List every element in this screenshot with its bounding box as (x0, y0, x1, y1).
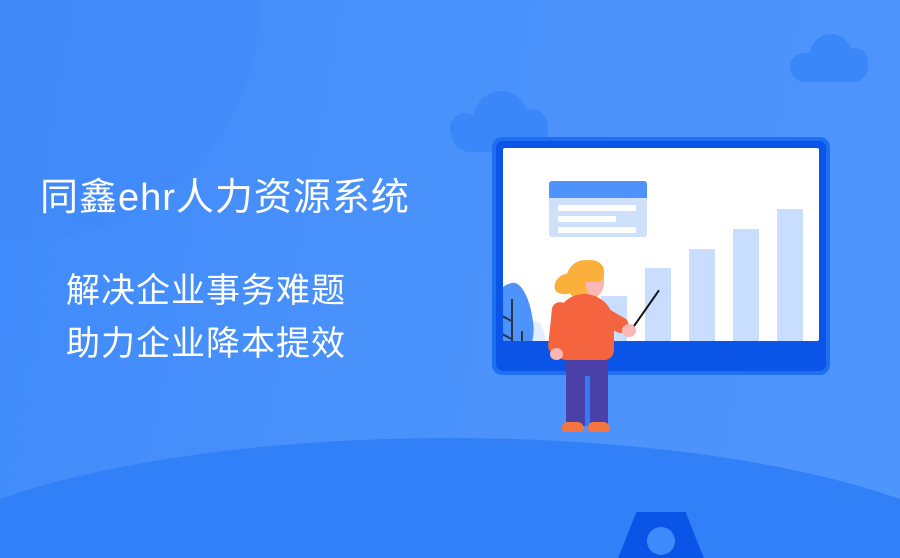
person-hand-right (622, 324, 636, 337)
person-shoe-left (562, 422, 584, 432)
person-hair-front (578, 260, 604, 282)
plant-leaf-front (503, 281, 537, 341)
bar-chart-bar (777, 209, 803, 341)
banner-subtitle-line-2: 助力企业降本提效 (66, 318, 346, 371)
person-leg-gap (585, 376, 590, 426)
bar-chart-bar (689, 249, 715, 341)
monitor-illustration (492, 137, 830, 375)
person-shoe-right (588, 422, 610, 432)
page-title: 同鑫ehr人力资源系统 (40, 178, 410, 220)
bar-chart-bar (733, 229, 759, 341)
plant-twig (521, 331, 523, 341)
banner-subtitle: 解决企业事务难题 助力企业降本提效 (66, 265, 346, 370)
banner-subtitle-line-1: 解决企业事务难题 (66, 265, 346, 318)
monitor-power-button (647, 527, 675, 555)
cloud-lump (842, 48, 868, 74)
banner-illustration: 同鑫ehr人力资源系统 解决企业事务难题 助力企业降本提效 (0, 0, 900, 558)
person-hand-left (550, 348, 563, 360)
cloud-icon-top-right (790, 53, 868, 82)
presenter-person (548, 258, 644, 442)
cloud-lump (450, 113, 480, 143)
